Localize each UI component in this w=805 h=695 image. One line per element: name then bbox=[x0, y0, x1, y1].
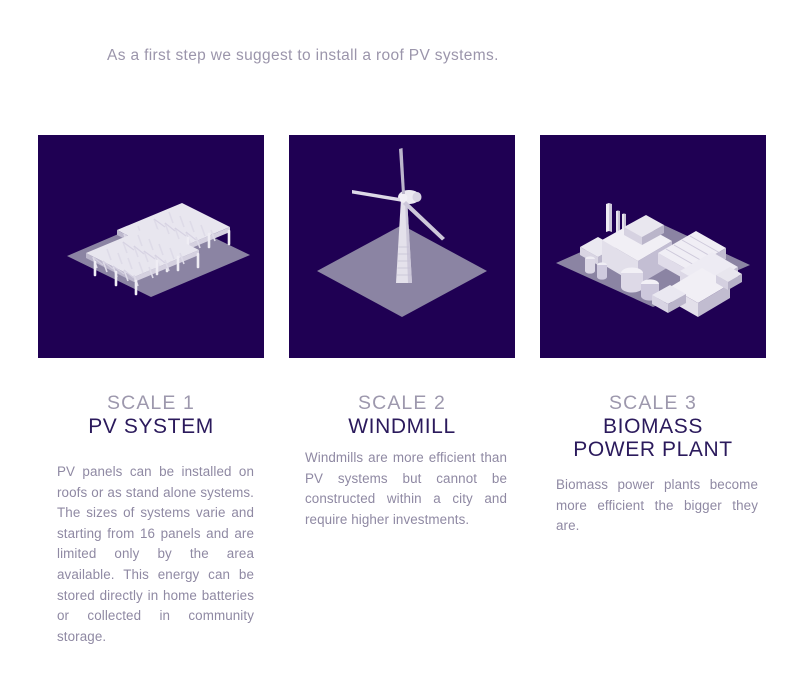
name-label: WINDMILL bbox=[289, 415, 515, 438]
body-text-windmill: Windmills are more efficient than PV sys… bbox=[305, 448, 507, 530]
illustration-card-windmill bbox=[289, 135, 515, 358]
scale-column-biomass: SCALE 3 BIOMASS POWER PLANT Biomass powe… bbox=[540, 135, 766, 537]
scale-column-pv-system: SCALE 1 PV SYSTEM PV panels can be insta… bbox=[38, 135, 264, 647]
illustration-card-pv-system bbox=[38, 135, 264, 358]
intro-text: As a first step we suggest to install a … bbox=[107, 45, 727, 67]
pv-system-icon bbox=[38, 135, 264, 358]
title-block-biomass: SCALE 3 BIOMASS POWER PLANT bbox=[540, 392, 766, 461]
name-label: PV SYSTEM bbox=[38, 415, 264, 438]
scale-label: SCALE 3 bbox=[540, 392, 766, 415]
title-block-windmill: SCALE 2 WINDMILL bbox=[289, 392, 515, 438]
scale-columns: SCALE 1 PV SYSTEM PV panels can be insta… bbox=[0, 135, 805, 680]
scale-label: SCALE 2 bbox=[289, 392, 515, 415]
title-block-pv-system: SCALE 1 PV SYSTEM bbox=[38, 392, 264, 438]
scale-column-windmill: SCALE 2 WINDMILL Windmills are more effi… bbox=[289, 135, 515, 530]
infographic-page: As a first step we suggest to install a … bbox=[0, 0, 805, 695]
name-label-line2: POWER PLANT bbox=[540, 438, 766, 461]
windmill-icon bbox=[289, 135, 515, 358]
body-text-biomass: Biomass power plants become more efficie… bbox=[556, 475, 758, 537]
scale-label: SCALE 1 bbox=[38, 392, 264, 415]
biomass-power-plant-icon bbox=[540, 135, 766, 358]
body-text-pv-system: PV panels can be installed on roofs or a… bbox=[57, 462, 254, 647]
name-label-line1: BIOMASS bbox=[540, 415, 766, 438]
illustration-card-biomass bbox=[540, 135, 766, 358]
